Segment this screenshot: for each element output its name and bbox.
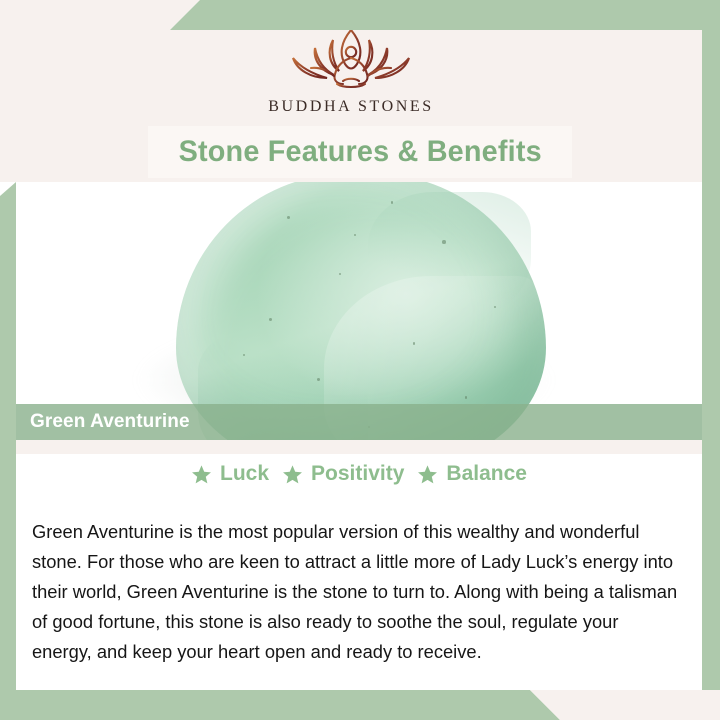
keyword-label: Positivity (311, 462, 404, 486)
star-icon (417, 464, 438, 485)
frame-band-right (702, 0, 720, 690)
frame-band-left (0, 182, 16, 720)
page-title: Stone Features & Benefits (178, 135, 541, 169)
stone-description-text: Green Aventurine is the most popular ver… (32, 517, 678, 667)
stone-name-label: Green Aventurine (30, 411, 190, 433)
keyword-label: Balance (446, 462, 527, 486)
star-icon (191, 464, 212, 485)
keyword-balance: Balance (417, 462, 527, 486)
section-divider (16, 440, 702, 454)
star-icon (282, 464, 303, 485)
brand-logo: BUDDHA STONES (0, 24, 702, 116)
keyword-positivity: Positivity (282, 462, 404, 486)
stone-facet-top (368, 192, 531, 324)
aventurine-stone-image (176, 182, 546, 440)
stone-photo (16, 182, 702, 440)
stone-name-bar: Green Aventurine (16, 404, 702, 440)
benefit-keywords: Luck Positivity Balance (16, 462, 702, 486)
lotus-meditation-icon (271, 24, 431, 94)
frame-band-bottom-cream (0, 690, 720, 720)
keyword-luck: Luck (191, 462, 269, 486)
header-panel: BUDDHA STONES Stone Features & Benefits (0, 0, 702, 182)
stone-features-infographic: BUDDHA STONES Stone Features & Benefits (0, 0, 720, 720)
frame-band-bottom (0, 690, 720, 720)
page-title-bar: Stone Features & Benefits (148, 126, 572, 178)
description-panel: Luck Positivity Balance Green Aventurine… (16, 440, 702, 690)
brand-name: BUDDHA STONES (268, 98, 434, 116)
keyword-label: Luck (220, 462, 269, 486)
